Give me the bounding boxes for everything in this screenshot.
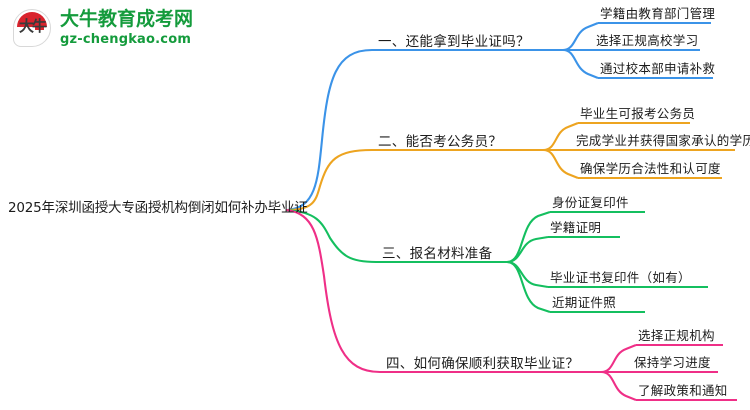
leaf-node-1-1[interactable]: 学籍由教育部门管理 bbox=[600, 8, 715, 21]
leaf-node-3-4[interactable]: 近期证件照 bbox=[552, 297, 616, 310]
branch-node-3[interactable]: 三、报名材料准备 bbox=[382, 248, 492, 262]
branch-node-2[interactable]: 二、能否考公务员？ bbox=[378, 136, 502, 150]
leaf-node-3-1[interactable]: 身份证复印件 bbox=[552, 197, 629, 210]
leaf-node-2-2[interactable]: 完成学业并获得国家承认的学历 bbox=[576, 135, 750, 148]
leaf-node-4-1[interactable]: 选择正规机构 bbox=[638, 330, 715, 343]
branch-node-4[interactable]: 四、如何确保顺利获取毕业证？ bbox=[386, 358, 579, 372]
branch-3-wires bbox=[287, 210, 708, 312]
leaf-node-2-1[interactable]: 毕业生可报考公务员 bbox=[580, 108, 695, 121]
leaf-node-4-3[interactable]: 了解政策和通知 bbox=[638, 385, 728, 398]
mindmap-canvas: 大牛 大牛教育成考网 gz-chengkao.com bbox=[0, 0, 750, 410]
leaf-node-3-3[interactable]: 毕业证书复印件（如有） bbox=[550, 272, 691, 285]
leaf-node-2-3[interactable]: 确保学历合法性和认可度 bbox=[580, 163, 721, 176]
branch-node-1[interactable]: 一、还能拿到毕业证吗？ bbox=[378, 36, 530, 50]
leaf-node-4-2[interactable]: 保持学习进度 bbox=[634, 357, 711, 370]
leaf-node-1-3[interactable]: 通过校本部申请补救 bbox=[600, 63, 715, 76]
root-node-label[interactable]: 2025年深圳函授大专函授机构倒闭如何补办毕业证 bbox=[8, 202, 308, 216]
leaf-node-1-2[interactable]: 选择正规高校学习 bbox=[596, 35, 698, 48]
leaf-node-3-2[interactable]: 学籍证明 bbox=[550, 222, 601, 235]
